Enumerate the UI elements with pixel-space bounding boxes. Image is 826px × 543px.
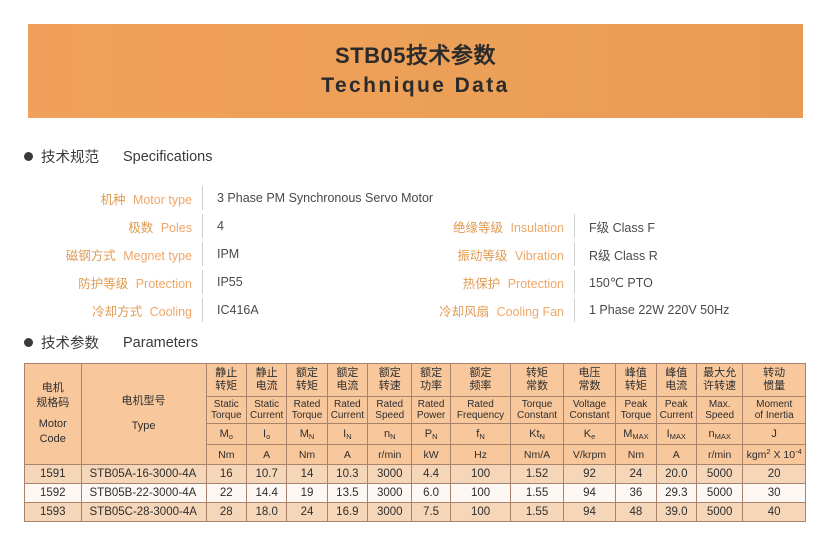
spec-row-cooling-fan: 冷却风扇 Cooling Fan 1 Phase 22W 220V 50Hz [434,296,782,324]
header-motor-type-cn: 电机型号 [82,394,206,409]
spec-value-vibration: R级 Class R [574,242,658,266]
header-symbol-col-10: IMAX [656,424,696,445]
header-symbol-col-7: KtN [511,424,563,445]
header-cn-col-2: 额定转矩 [287,364,327,397]
cell-value-3: 10.3 [327,465,367,484]
cell-value-4: 3000 [368,484,412,503]
spec-row-vibration: 振动等级 Vibration R级 Class R [434,240,782,268]
header-motor-code-en2: Code [25,432,81,447]
cell-value-11: 5000 [696,503,742,522]
parameters-heading-cn: 技术参数 [41,332,99,353]
spec-label-insulation: 绝缘等级 Insulation [434,217,574,236]
cell-value-5: 4.4 [412,465,450,484]
cell-value-8: 92 [563,465,615,484]
cell-value-2: 19 [287,484,327,503]
header-en-col-0: StaticTorque [206,397,246,424]
header-cn-col-7: 转矩常数 [511,364,563,397]
header-row-cn: 电机 规格码 Motor Code 电机型号 Type 静止转矩静止电流额定转矩… [25,364,806,397]
header-symbol-col-11: nMAX [696,424,742,445]
header-cn-col-11: 最大允许转速 [696,364,742,397]
parameters-table-head: 电机 规格码 Motor Code 电机型号 Type 静止转矩静止电流额定转矩… [25,364,806,465]
header-symbol-col-4: nN [368,424,412,445]
header-motor-code-cn2: 规格码 [25,396,81,411]
cell-value-5: 7.5 [412,503,450,522]
header-cn-col-12: 转动惯量 [743,364,806,397]
spec-value-megnet-type: IPM [202,242,239,266]
cell-value-9: 36 [616,484,656,503]
spec-row-thermal-protection: 热保护 Protection 150℃ PTO [434,268,782,296]
cell-value-0: 22 [206,484,246,503]
parameters-table-body: 1591STB05A-16-3000-4A1610.71410.330004.4… [25,465,806,522]
spec-label-cn: 绝缘等级 [453,221,503,235]
header-en-col-8: VoltageConstant [563,397,615,424]
header-symbol-col-5: PN [412,424,450,445]
spec-label-motor-type: 机种 Motor type [62,189,202,208]
spec-label-en: Megnet type [123,249,192,263]
header-symbol-col-9: MMAX [616,424,656,445]
banner-title-cn: STB05技术参数 [335,42,496,70]
cell-value-3: 16.9 [327,503,367,522]
cell-value-0: 28 [206,503,246,522]
spec-row-insulation: 绝缘等级 Insulation F级 Class F [434,212,782,240]
spec-label-vibration: 振动等级 Vibration [434,245,574,264]
cell-value-11: 5000 [696,484,742,503]
table-row: 1593STB05C-28-3000-4A2818.02416.930007.5… [25,503,806,522]
spec-label-en: Insulation [510,221,564,235]
cell-value-9: 24 [616,465,656,484]
spec-label-en: Cooling Fan [497,305,564,319]
header-en-col-10: PeakCurrent [656,397,696,424]
cell-motor-type: STB05A-16-3000-4A [81,465,206,484]
header-unit-col-5: kW [412,445,450,465]
header-unit-col-4: r/min [368,445,412,465]
cell-value-8: 94 [563,503,615,522]
spec-label-cn: 防护等级 [78,277,128,291]
spec-label-cn: 机种 [100,193,125,207]
cell-value-7: 1.52 [511,465,563,484]
header-en-col-5: RatedPower [412,397,450,424]
header-cn-col-10: 峰值电流 [656,364,696,397]
header-symbol-col-2: MN [287,424,327,445]
banner-title-en: Technique Data [321,72,509,100]
cell-value-3: 13.5 [327,484,367,503]
table-row: 1591STB05A-16-3000-4A1610.71410.330004.4… [25,465,806,484]
header-motor-type: 电机型号 Type [81,364,206,465]
spec-value-cooling-fan: 1 Phase 22W 220V 50Hz [574,298,729,322]
spec-label-en: Protection [136,277,192,291]
header-en-col-2: RatedTorque [287,397,327,424]
cell-value-11: 5000 [696,465,742,484]
cell-value-12: 40 [743,503,806,522]
cell-value-7: 1.55 [511,503,563,522]
specifications-block: 机种 Motor type 3 Phase PM Synchronous Ser… [62,184,782,324]
header-unit-col-1: A [246,445,286,465]
header-symbol-col-1: Io [246,424,286,445]
cell-value-6: 100 [450,503,511,522]
spec-label-cn: 冷却风扇 [439,305,489,319]
spec-label-cn: 冷却方式 [92,305,142,319]
spec-label-cn: 热保护 [463,277,501,291]
header-en-col-1: StaticCurrent [246,397,286,424]
cell-value-1: 14.4 [246,484,286,503]
spec-row-cooling: 冷却方式 Cooling IC416A [62,296,434,324]
parameters-heading: 技术参数 Parameters [24,332,198,353]
spec-value-poles: 4 [202,214,224,238]
header-unit-col-0: Nm [206,445,246,465]
spec-label-protection: 防护等级 Protection [62,273,202,292]
spec-value-insulation: F级 Class F [574,214,655,238]
parameters-table: 电机 规格码 Motor Code 电机型号 Type 静止转矩静止电流额定转矩… [24,363,806,522]
filled-circle-bullet-icon [24,152,33,161]
header-symbol-col-3: IN [327,424,367,445]
cell-value-5: 6.0 [412,484,450,503]
header-cn-col-0: 静止转矩 [206,364,246,397]
header-cn-col-5: 额定功率 [412,364,450,397]
specifications-heading-en: Specifications [123,149,212,165]
spec-row-spacer [434,184,782,212]
cell-value-7: 1.55 [511,484,563,503]
header-cn-col-6: 额定频率 [450,364,511,397]
header-motor-code: 电机 规格码 Motor Code [25,364,82,465]
spec-label-thermal-protection: 热保护 Protection [434,273,574,292]
header-motor-type-en: Type [82,419,206,434]
cell-value-10: 39.0 [656,503,696,522]
header-motor-code-cn1: 电机 [25,381,81,396]
header-cn-col-4: 额定转速 [368,364,412,397]
spec-label-cn: 磁钢方式 [66,249,116,263]
cell-value-6: 100 [450,465,511,484]
cell-value-0: 16 [206,465,246,484]
cell-motor-type: STB05C-28-3000-4A [81,503,206,522]
header-en-col-3: RatedCurrent [327,397,367,424]
spec-label-cooling: 冷却方式 Cooling [62,301,202,320]
spec-row-motor-type: 机种 Motor type 3 Phase PM Synchronous Ser… [62,184,434,212]
parameters-heading-en: Parameters [123,335,198,351]
header-unit-col-11: r/min [696,445,742,465]
filled-circle-bullet-icon [24,338,33,347]
cell-value-2: 14 [287,465,327,484]
header-symbol-col-8: Ke [563,424,615,445]
header-symbol-col-0: Mo [206,424,246,445]
header-symbol-col-6: fN [450,424,511,445]
spec-label-en: Poles [161,221,192,235]
header-cn-col-9: 峰值转矩 [616,364,656,397]
cell-motor-code: 1592 [25,484,82,503]
cell-value-12: 30 [743,484,806,503]
header-en-col-4: RatedSpeed [368,397,412,424]
spec-label-en: Cooling [150,305,192,319]
spec-label-en: Motor type [133,193,192,207]
specifications-left-column: 机种 Motor type 3 Phase PM Synchronous Ser… [62,184,434,324]
spec-row-poles: 极数 Poles 4 [62,212,434,240]
cell-value-1: 10.7 [246,465,286,484]
header-unit-col-3: A [327,445,367,465]
cell-motor-type: STB05B-22-3000-4A [81,484,206,503]
header-en-col-11: Max.Speed [696,397,742,424]
header-en-col-9: PeakTorque [616,397,656,424]
spec-row-protection: 防护等级 Protection IP55 [62,268,434,296]
spec-label-megnet-type: 磁钢方式 Megnet type [62,245,202,264]
spec-label-cn: 极数 [128,221,153,235]
cell-value-10: 29.3 [656,484,696,503]
spec-label-cooling-fan: 冷却风扇 Cooling Fan [434,301,574,320]
cell-value-12: 20 [743,465,806,484]
spec-label-en: Vibration [515,249,564,263]
spec-label-cn: 振动等级 [457,249,507,263]
header-motor-code-en1: Motor [25,417,81,432]
page-banner: STB05技术参数 Technique Data [28,24,803,118]
cell-value-2: 24 [287,503,327,522]
cell-value-9: 48 [616,503,656,522]
table-row: 1592STB05B-22-3000-4A2214.41913.530006.0… [25,484,806,503]
header-unit-col-9: Nm [616,445,656,465]
header-unit-col-7: Nm/A [511,445,563,465]
cell-motor-code: 1591 [25,465,82,484]
header-unit-col-6: Hz [450,445,511,465]
spec-row-megnet-type: 磁钢方式 Megnet type IPM [62,240,434,268]
specifications-heading-cn: 技术规范 [41,146,99,167]
header-en-col-7: TorqueConstant [511,397,563,424]
specifications-right-column: 绝缘等级 Insulation F级 Class F 振动等级 Vibratio… [434,184,782,324]
header-cn-col-3: 额定电流 [327,364,367,397]
cell-value-8: 94 [563,484,615,503]
spec-value-spacer [574,186,588,210]
spec-value-protection: IP55 [202,270,243,294]
cell-value-1: 18.0 [246,503,286,522]
cell-motor-code: 1593 [25,503,82,522]
spec-value-motor-type: 3 Phase PM Synchronous Servo Motor [202,186,433,210]
spec-value-thermal-protection: 150℃ PTO [574,270,653,294]
header-cn-col-1: 静止电流 [246,364,286,397]
header-unit-col-12: kgm2 X 10-4 [743,445,806,465]
header-unit-col-10: A [656,445,696,465]
header-cn-col-8: 电压常数 [563,364,615,397]
header-en-col-12: Momentof Inertia [743,397,806,424]
cell-value-6: 100 [450,484,511,503]
header-unit-col-8: V/krpm [563,445,615,465]
cell-value-10: 20.0 [656,465,696,484]
spec-value-cooling: IC416A [202,298,259,322]
cell-value-4: 3000 [368,503,412,522]
header-symbol-col-12: J [743,424,806,445]
header-en-col-6: RatedFrequency [450,397,511,424]
spec-label-poles: 极数 Poles [62,217,202,236]
cell-value-4: 3000 [368,465,412,484]
specifications-heading: 技术规范 Specifications [24,146,212,167]
header-unit-col-2: Nm [287,445,327,465]
spec-label-en: Protection [508,277,564,291]
